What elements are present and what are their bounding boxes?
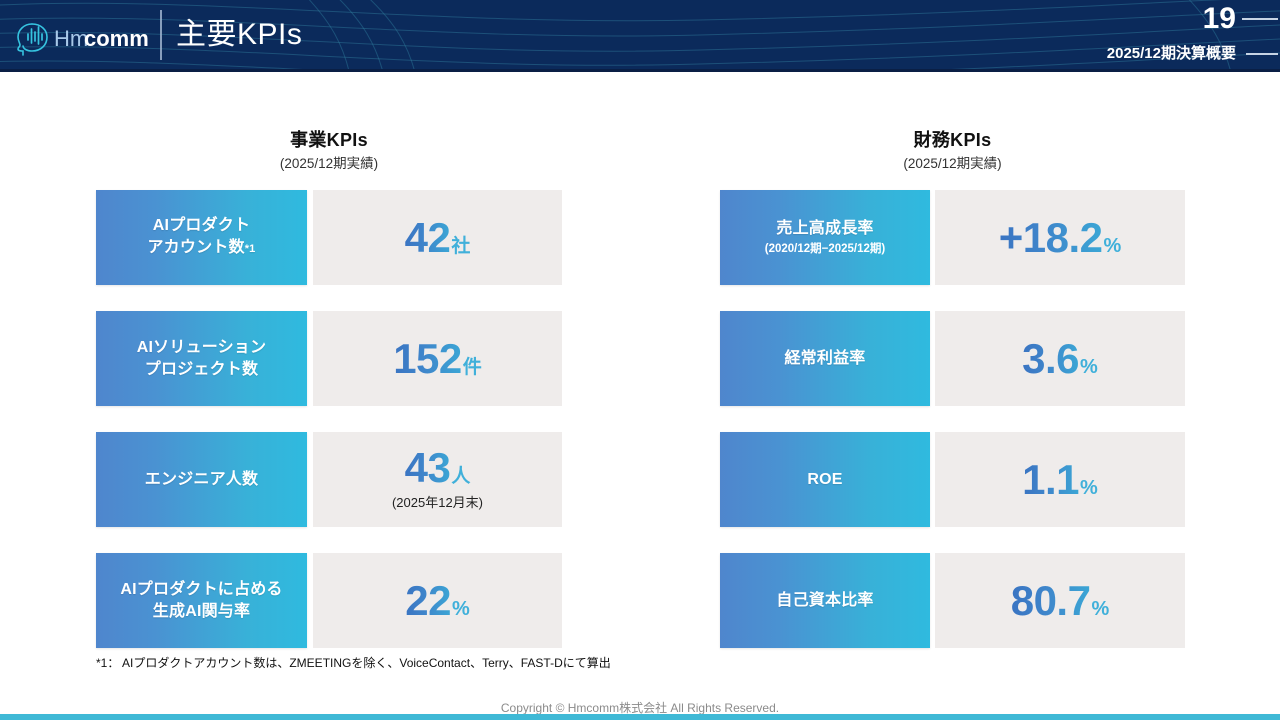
kpi-value-panel: 152 件	[313, 311, 562, 406]
kpi-label-line1: エンジニア人数	[145, 469, 258, 491]
business-kpi-list: AIプロダクト アカウント数*1 42 社 AIソリューション プロジェクト数	[96, 190, 562, 648]
footer-accent-bar	[0, 714, 1280, 720]
finance-kpi-list: 売上高成長率 (2020/12期−2025/12期) +18.2 % 経常利益率	[720, 190, 1185, 648]
business-kpi-column: 事業KPIs (2025/12期実績) AIプロダクト アカウント数*1 42 …	[96, 128, 562, 174]
page-title: 主要KPIs	[176, 13, 302, 57]
kpi-value-panel: 43 人 (2025年12月末)	[313, 432, 562, 527]
finance-kpi-column: 財務KPIs (2025/12期実績) 売上高成長率 (2020/12期−202…	[720, 128, 1185, 174]
kpi-value-number: 1.1	[1022, 459, 1079, 501]
kpi-label-card: AIソリューション プロジェクト数	[96, 311, 307, 406]
kpi-label-line1: AIプロダクト	[153, 215, 250, 237]
header-bottom-rule	[0, 69, 1280, 72]
kpi-value-number: 152	[393, 338, 462, 380]
kpi-label-note: (2020/12期−2025/12期)	[765, 241, 886, 257]
finance-kpi-subheading: (2025/12期実績)	[720, 154, 1185, 174]
kpi-value-main: 3.6 %	[1022, 338, 1098, 380]
kpi-label-line2-wrap: アカウント数*1	[147, 237, 255, 260]
kpi-value-panel: 42 社	[313, 190, 562, 285]
kpi-value-number: +18.2	[999, 217, 1103, 259]
business-kpi-subheading: (2025/12期実績)	[96, 154, 562, 174]
kpi-value-number: 3.6	[1022, 338, 1079, 380]
kpi-row[interactable]: AIプロダクト アカウント数*1 42 社	[96, 190, 562, 285]
kpi-label-footnote-marker: *1	[245, 243, 256, 255]
hmcomm-logo: Hm comm	[14, 16, 154, 58]
kpi-value-number: 42	[405, 217, 451, 259]
kpi-value-number: 80.7	[1011, 580, 1091, 622]
kpi-value-unit: 件	[463, 358, 482, 377]
kpi-value-unit: %	[1080, 478, 1098, 498]
kpi-value-number: 43	[405, 447, 451, 489]
kpi-value-unit: %	[1080, 357, 1098, 377]
kpi-label-line1: AIソリューション	[137, 337, 266, 359]
kpi-value-unit: 人	[451, 467, 470, 486]
subtitle-dash-icon	[1246, 53, 1278, 55]
kpi-row[interactable]: 経常利益率 3.6 %	[720, 311, 1185, 406]
kpi-row[interactable]: 自己資本比率 80.7 %	[720, 553, 1185, 648]
kpi-value-panel: 1.1 %	[935, 432, 1185, 527]
kpi-value-main: 43 人	[405, 447, 471, 489]
kpi-value-main: 1.1 %	[1022, 459, 1098, 501]
kpi-label-line1: ROE	[807, 469, 842, 491]
kpi-label-line1: 経常利益率	[784, 348, 865, 370]
kpi-label-card: ROE	[720, 432, 930, 527]
kpi-value-panel: +18.2 %	[935, 190, 1185, 285]
kpi-value-panel: 22 %	[313, 553, 562, 648]
svg-text:comm: comm	[84, 26, 149, 51]
kpi-row[interactable]: ROE 1.1 %	[720, 432, 1185, 527]
footnote-text: *1： AIプロダクトアカウント数は、ZMEETINGを除く、VoiceCont…	[96, 655, 611, 672]
kpi-value-unit: %	[1091, 599, 1109, 619]
kpi-label-card: エンジニア人数	[96, 432, 307, 527]
kpi-value-main: 80.7 %	[1011, 580, 1110, 622]
kpi-value-main: 22 %	[405, 580, 470, 622]
slide-header: Hm comm 主要KPIs 19 2025/12期決算概要	[0, 0, 1280, 72]
kpi-row[interactable]: AIソリューション プロジェクト数 152 件	[96, 311, 562, 406]
kpi-value-main: 42 社	[405, 217, 471, 259]
kpi-value-panel: 3.6 %	[935, 311, 1185, 406]
kpi-label-line2: 生成AI関与率	[153, 601, 250, 623]
kpi-row[interactable]: エンジニア人数 43 人 (2025年12月末)	[96, 432, 562, 527]
kpi-value-unit: %	[1103, 236, 1121, 256]
kpi-row[interactable]: AIプロダクトに占める 生成AI関与率 22 %	[96, 553, 562, 648]
kpi-label-line2: プロジェクト数	[145, 359, 258, 381]
kpi-value-main: +18.2 %	[999, 217, 1122, 259]
kpi-label-card: 自己資本比率	[720, 553, 930, 648]
kpi-label-card: 売上高成長率 (2020/12期−2025/12期)	[720, 190, 930, 285]
header-divider	[160, 10, 162, 60]
kpi-value-main: 152 件	[393, 338, 482, 380]
kpi-value-panel: 80.7 %	[935, 553, 1185, 648]
kpi-value-number: 22	[405, 580, 451, 622]
page-number-dash-icon	[1242, 18, 1278, 20]
slide-canvas: Hm comm 主要KPIs 19 2025/12期決算概要 事業KPIs (2…	[0, 0, 1280, 720]
kpi-label-card: AIプロダクト アカウント数*1	[96, 190, 307, 285]
kpi-label-line2: アカウント数	[147, 239, 244, 256]
page-number: 19	[1203, 2, 1236, 36]
kpi-label-line1: AIプロダクトに占める	[120, 579, 282, 601]
kpi-value-unit: 社	[451, 237, 470, 256]
kpi-label-card: 経常利益率	[720, 311, 930, 406]
kpi-value-unit: %	[452, 599, 470, 619]
kpi-label-line1: 自己資本比率	[776, 590, 873, 612]
kpi-label-card: AIプロダクトに占める 生成AI関与率	[96, 553, 307, 648]
kpi-label-line1: 売上高成長率	[776, 218, 873, 240]
kpi-row[interactable]: 売上高成長率 (2020/12期−2025/12期) +18.2 %	[720, 190, 1185, 285]
kpi-value-note: (2025年12月末)	[392, 494, 483, 512]
header-subtitle: 2025/12期決算概要	[1107, 44, 1236, 64]
business-kpi-heading: 事業KPIs	[96, 128, 562, 152]
finance-kpi-heading: 財務KPIs	[720, 128, 1185, 152]
